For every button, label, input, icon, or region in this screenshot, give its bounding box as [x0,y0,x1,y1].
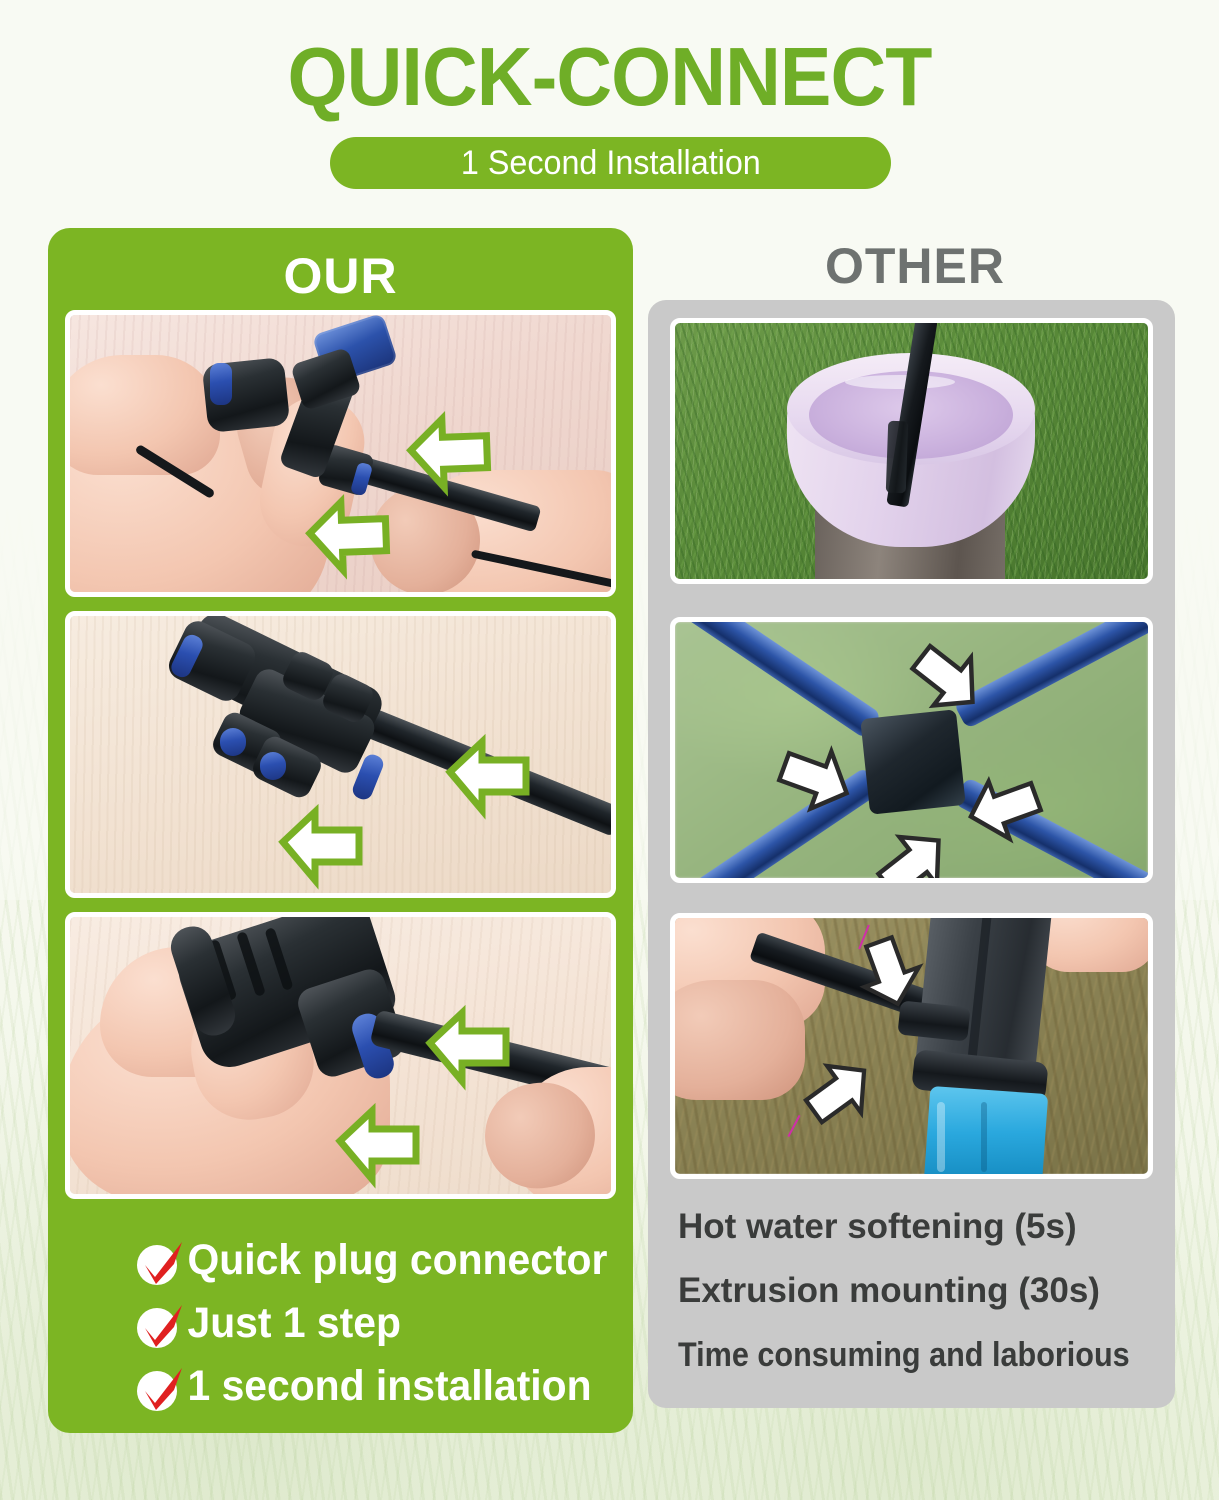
arrow-right-icon [775,744,857,816]
our-feature-item: 1 second installation [78,1354,633,1417]
infographic-page: QUICK-CONNECT 1 Second Installation OUR [0,0,1219,1500]
our-feature-list: Quick plug connector Just 1 step [78,1228,633,1417]
subtitle-badge: 1 Second Installation [330,137,891,189]
other-feature-label: Time consuming and laborious [678,1335,1130,1375]
our-column-heading: OUR [48,248,633,304]
our-feature-item: Quick plug connector [78,1228,633,1291]
subtitle-badge-label: 1 Second Installation [461,145,761,181]
other-feature-list: Hot water softening (5s) Extrusion mount… [678,1195,1178,1387]
page-title: QUICK-CONNECT [43,34,1177,120]
other-column-heading: OTHER [655,238,1175,294]
our-photo-multi-port-manifold-fitting-on-table [65,611,616,898]
our-feature-label: Just 1 step [140,1300,401,1346]
other-feature-label: Hot water softening (5s) [678,1207,1077,1247]
arrow-down-left-icon [907,644,989,716]
arrow-up-right-icon [873,830,955,883]
header: QUICK-CONNECT 1 Second Installation [0,0,1219,210]
other-feature-item: Extrusion mounting (30s) [678,1259,1178,1323]
our-feature-item: Just 1 step [78,1291,633,1354]
our-column-panel: OUR [48,228,633,1433]
other-feature-item: Hot water softening (5s) [678,1195,1178,1259]
our-feature-label: Quick plug connector [140,1237,607,1283]
other-feature-label: Extrusion mounting (30s) [678,1271,1100,1311]
other-photo-cross-tube-connector-closeup [670,617,1153,883]
arrow-down-right-icon [851,940,929,1008]
other-photo-tube-soaking-in-hot-water-cup [670,318,1153,584]
other-feature-item: Time consuming and laborious [678,1323,1178,1387]
our-photo-hand-holding-quick-connect-tee-fitting [65,310,616,597]
other-column-panel: Hot water softening (5s) Extrusion mount… [648,300,1175,1408]
our-feature-label: 1 second installation [140,1363,592,1409]
our-photo-hands-inserting-tube-into-ribbed-cap [65,912,616,1199]
arrow-up-left-icon [963,774,1045,846]
other-photo-pressing-tube-onto-barb-fitting [670,913,1153,1179]
arrow-up-right-icon [801,1060,879,1128]
